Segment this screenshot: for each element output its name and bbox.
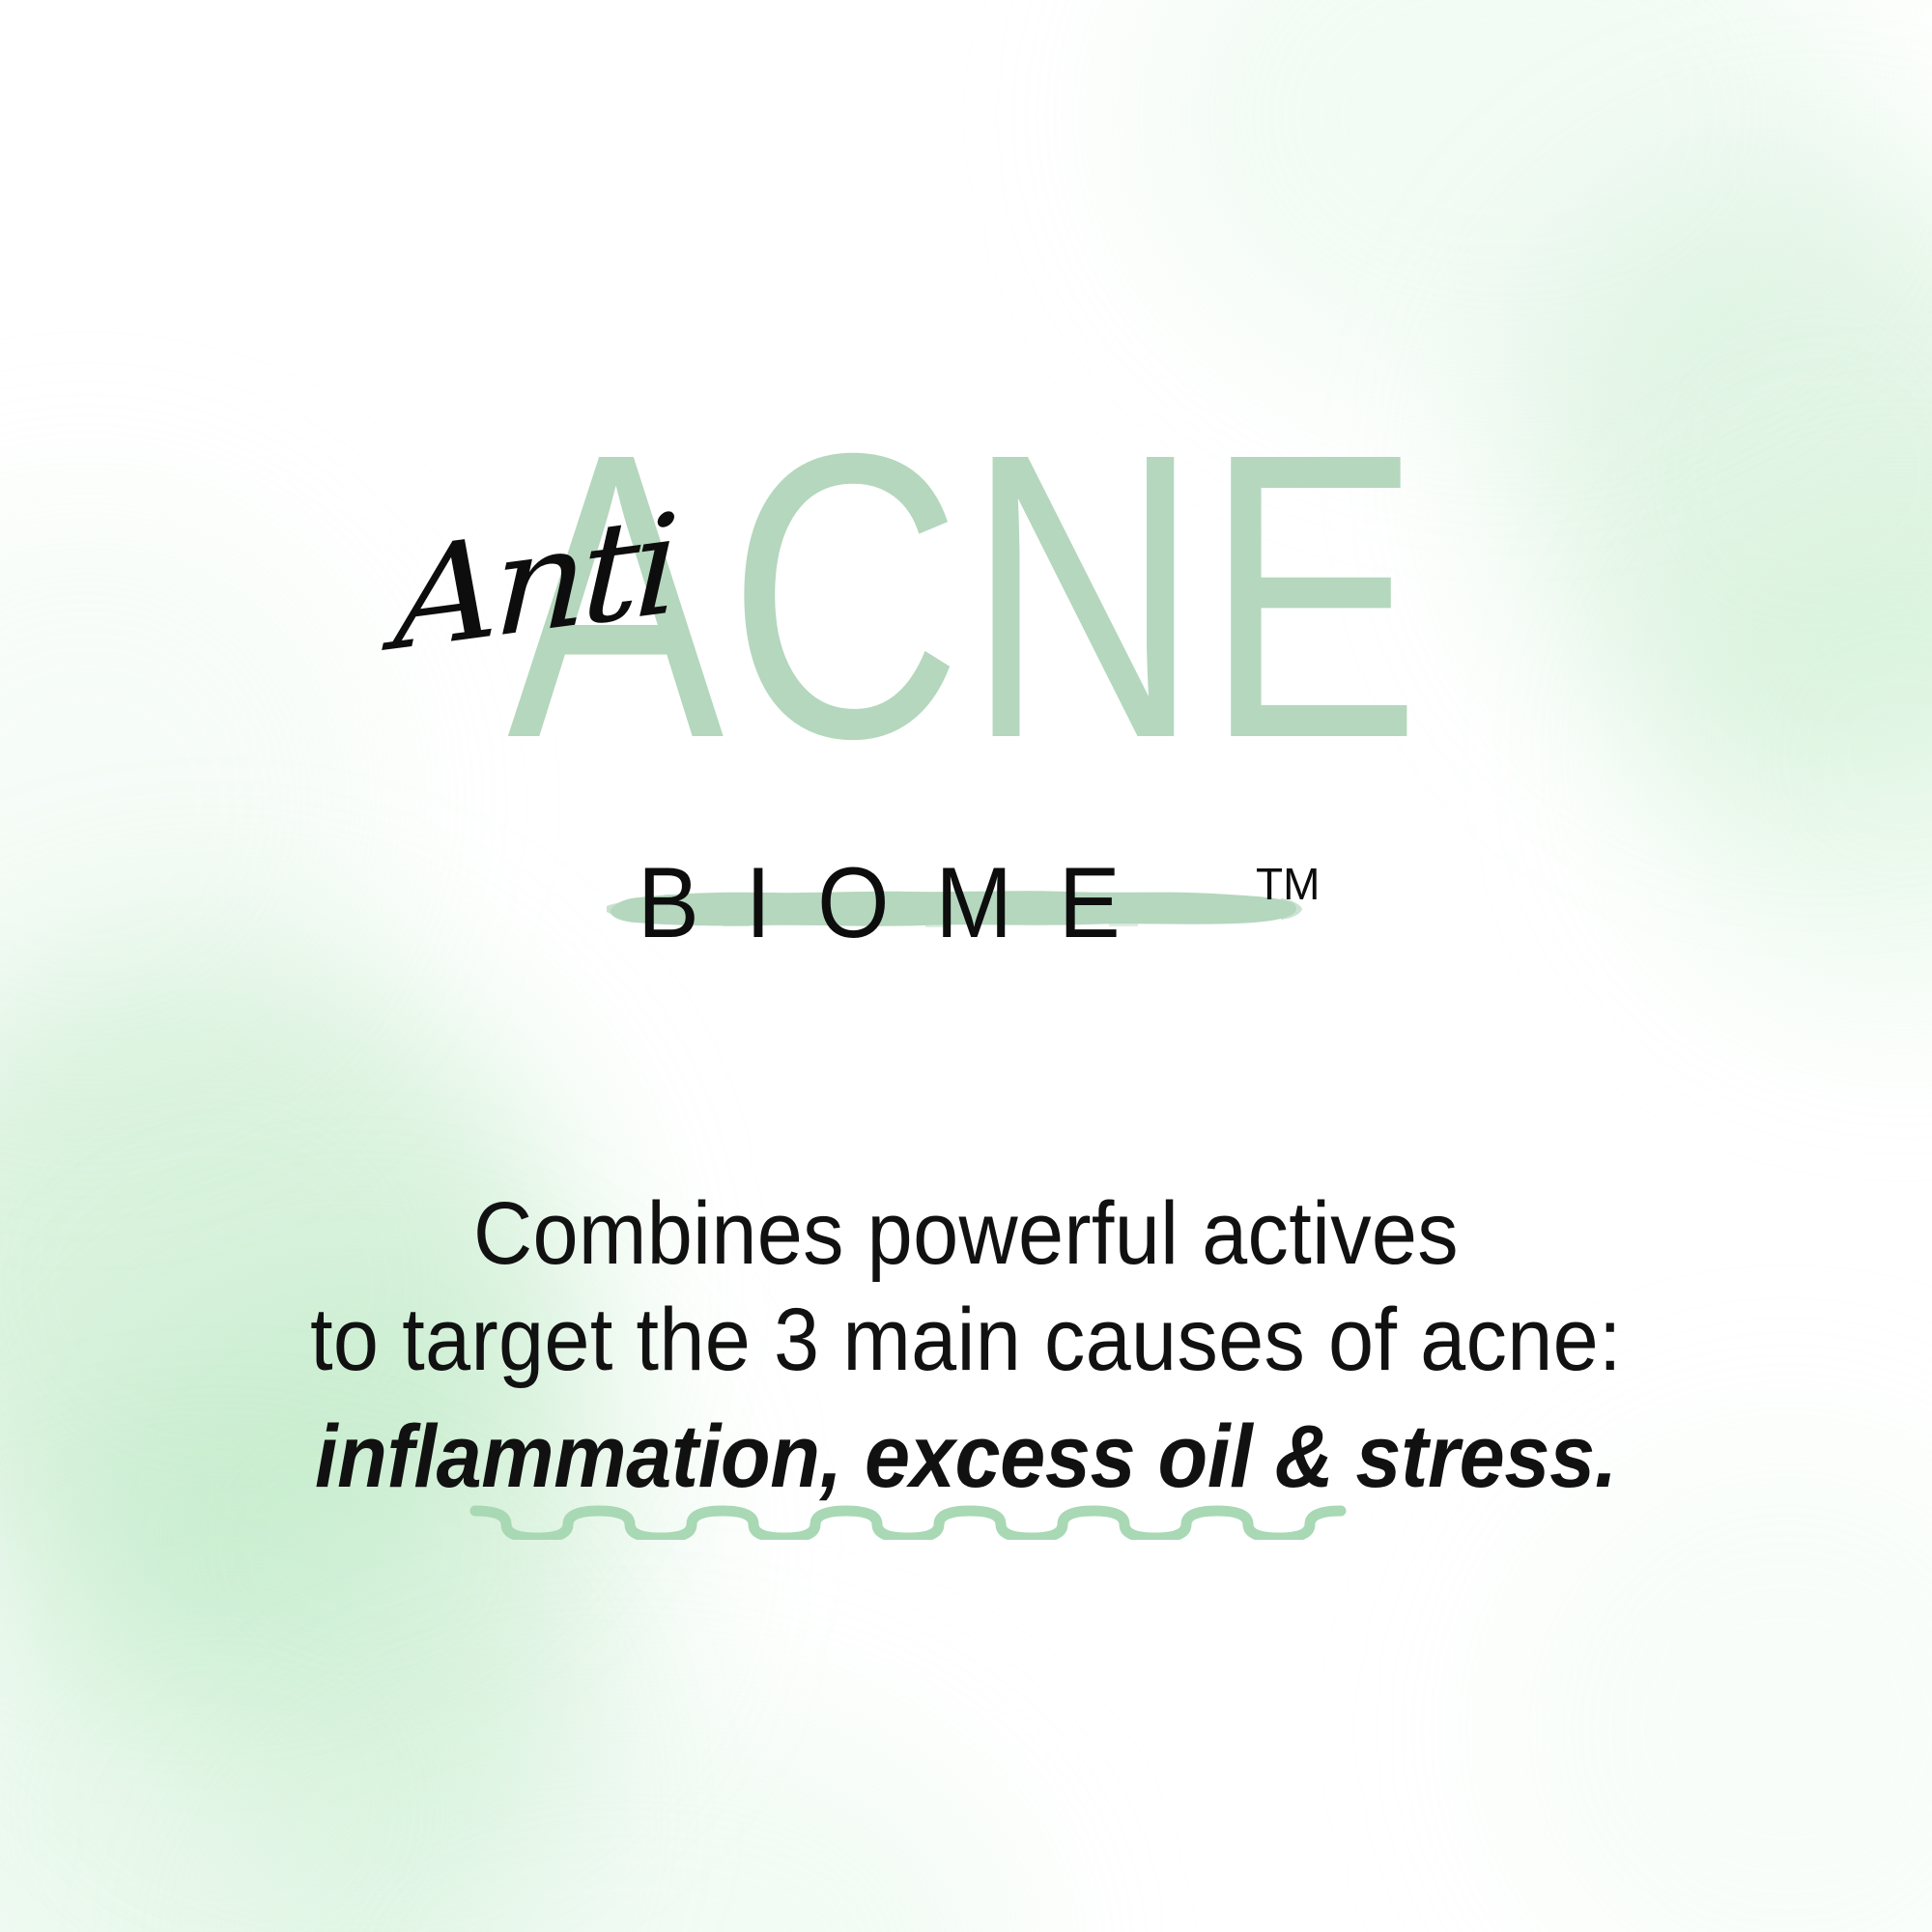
brand-sub-line: BIOME TM (0, 850, 1932, 976)
trademark-mark: TM (1256, 858, 1320, 910)
brand-script-word: Anti (392, 497, 675, 671)
background-blob (232, 1700, 1024, 1932)
description-line-2: to target the 3 main causes of acne: (77, 1287, 1855, 1393)
poster-canvas: ACNE Anti BIOME TM Combines powerful act… (0, 0, 1932, 1932)
brand-sub-word: BIOME (638, 850, 1167, 956)
background-blob (1140, 0, 1874, 406)
description-line-1: Combines powerful actives (77, 1180, 1855, 1287)
description-line-3-emphasis: inflammation, excess oil & stress. (77, 1404, 1855, 1510)
description-block: Combines powerful actives to target the … (0, 1180, 1932, 1510)
brand-sub-line-inner: BIOME TM (638, 850, 1352, 976)
brand-logo-lockup: ACNE Anti (0, 483, 1932, 908)
background-blob (0, 1507, 560, 1932)
